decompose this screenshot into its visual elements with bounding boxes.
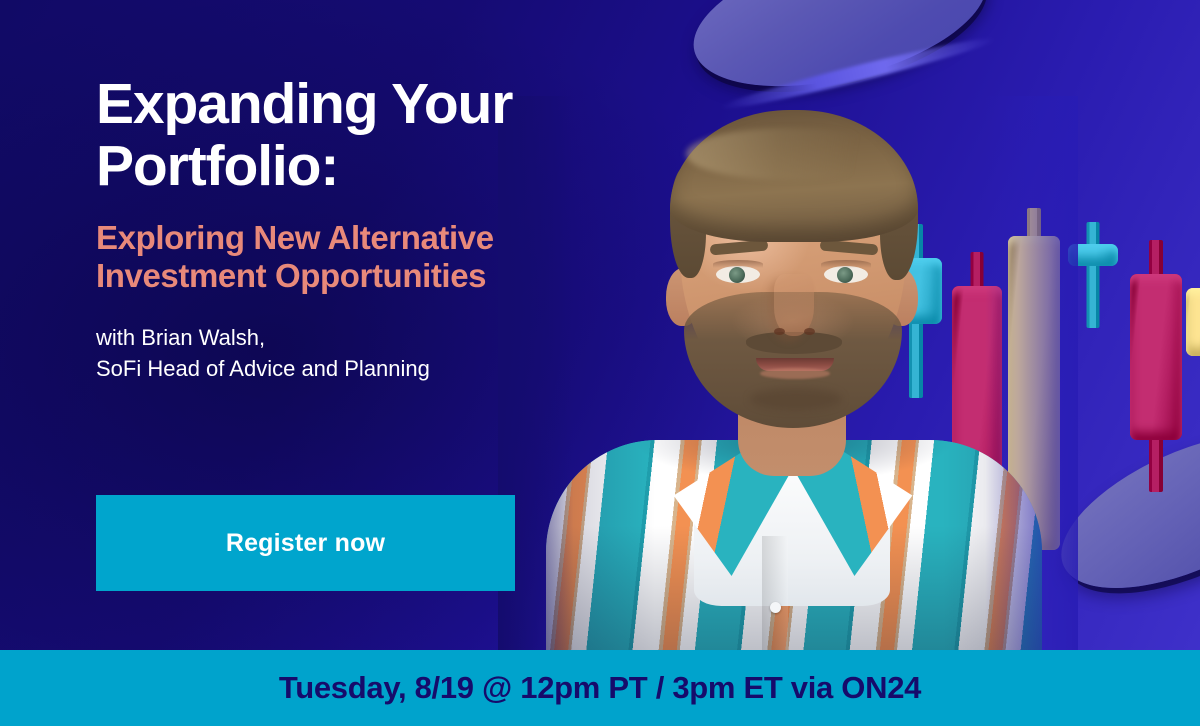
candle-wick bbox=[1087, 222, 1100, 328]
event-datetime-bar: Tuesday, 8/19 @ 12pm PT / 3pm ET via ON2… bbox=[0, 650, 1200, 726]
nose bbox=[774, 274, 814, 336]
candlestick-6 bbox=[1186, 288, 1200, 356]
headline-line-2: Portfolio: bbox=[96, 134, 338, 198]
subtitle: Exploring New Alternative Investment Opp… bbox=[96, 219, 616, 296]
subhead-line-2: Investment Opportunities bbox=[96, 257, 486, 294]
banner-copy: Expanding Your Portfolio: Exploring New … bbox=[96, 74, 656, 384]
eyelid-left bbox=[713, 260, 763, 268]
iris-left bbox=[729, 267, 745, 283]
candle-body bbox=[1186, 288, 1200, 356]
candle-body bbox=[1130, 274, 1182, 440]
candlestick-5 bbox=[1130, 240, 1182, 492]
eye-left bbox=[716, 266, 760, 283]
nostril-left bbox=[774, 328, 785, 335]
chin-shadow bbox=[750, 388, 842, 410]
nostril-right bbox=[804, 328, 815, 335]
event-datetime-text: Tuesday, 8/19 @ 12pm PT / 3pm ET via ON2… bbox=[279, 670, 921, 706]
lower-lip bbox=[760, 368, 830, 379]
headline-line-1: Expanding Your bbox=[96, 72, 512, 136]
speaker-title: SoFi Head of Advice and Planning bbox=[96, 356, 430, 381]
register-now-button[interactable]: Register now bbox=[96, 495, 515, 591]
shirt-placket bbox=[762, 536, 788, 654]
speaker-credit: with Brian Walsh, SoFi Head of Advice an… bbox=[96, 322, 656, 384]
eye-right bbox=[824, 266, 868, 283]
speaker-name: with Brian Walsh, bbox=[96, 325, 265, 350]
webinar-promo-banner: Expanding Your Portfolio: Exploring New … bbox=[0, 0, 1200, 726]
iris-right bbox=[837, 267, 853, 283]
page-title: Expanding Your Portfolio: bbox=[96, 74, 656, 197]
shirt-button bbox=[770, 602, 781, 613]
eyelid-right bbox=[821, 260, 871, 268]
hair bbox=[670, 110, 918, 242]
subhead-line-1: Exploring New Alternative bbox=[96, 219, 494, 256]
